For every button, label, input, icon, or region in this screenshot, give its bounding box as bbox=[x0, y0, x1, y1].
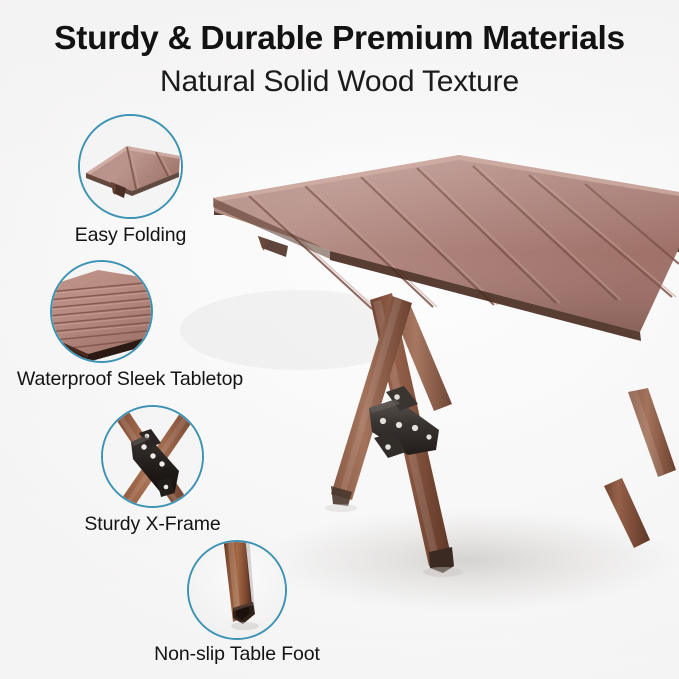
callout-easy-folding-bubble bbox=[78, 114, 183, 219]
page-title: Sturdy & Durable Premium Materials bbox=[0, 20, 679, 58]
callout-waterproof-bubble bbox=[50, 260, 153, 363]
table-leg-foot-cap-icon bbox=[189, 542, 287, 640]
callout-easy-folding-label: Easy Folding bbox=[48, 224, 213, 247]
leg-far-right bbox=[628, 388, 676, 477]
callout-sturdy-x-frame: Sturdy X-Frame bbox=[101, 405, 204, 508]
slatted-tabletop-surface-icon bbox=[52, 262, 153, 363]
page-subtitle: Natural Solid Wood Texture bbox=[0, 64, 679, 100]
callout-foot-bubble bbox=[187, 540, 287, 640]
callout-non-slip-table-foot: Non-slip Table Foot bbox=[187, 540, 287, 640]
header-block: Sturdy & Durable Premium Materials Natur… bbox=[0, 20, 679, 100]
callout-waterproof-sleek-tabletop: Waterproof Sleek Tabletop bbox=[50, 260, 153, 363]
callout-foot-label: Non-slip Table Foot bbox=[132, 643, 342, 666]
under-rail-tab bbox=[258, 236, 288, 257]
callout-easy-folding: Easy Folding bbox=[78, 114, 183, 219]
callout-waterproof-label: Waterproof Sleek Tabletop bbox=[12, 368, 248, 391]
x-frame-bracket-icon bbox=[103, 407, 204, 508]
callout-x-frame-label: Sturdy X-Frame bbox=[71, 513, 234, 536]
callout-x-frame-bubble bbox=[101, 405, 204, 508]
product-feature-infographic: Sturdy & Durable Premium Materials Natur… bbox=[0, 0, 679, 679]
folded-tabletop-panel-icon bbox=[80, 116, 183, 219]
